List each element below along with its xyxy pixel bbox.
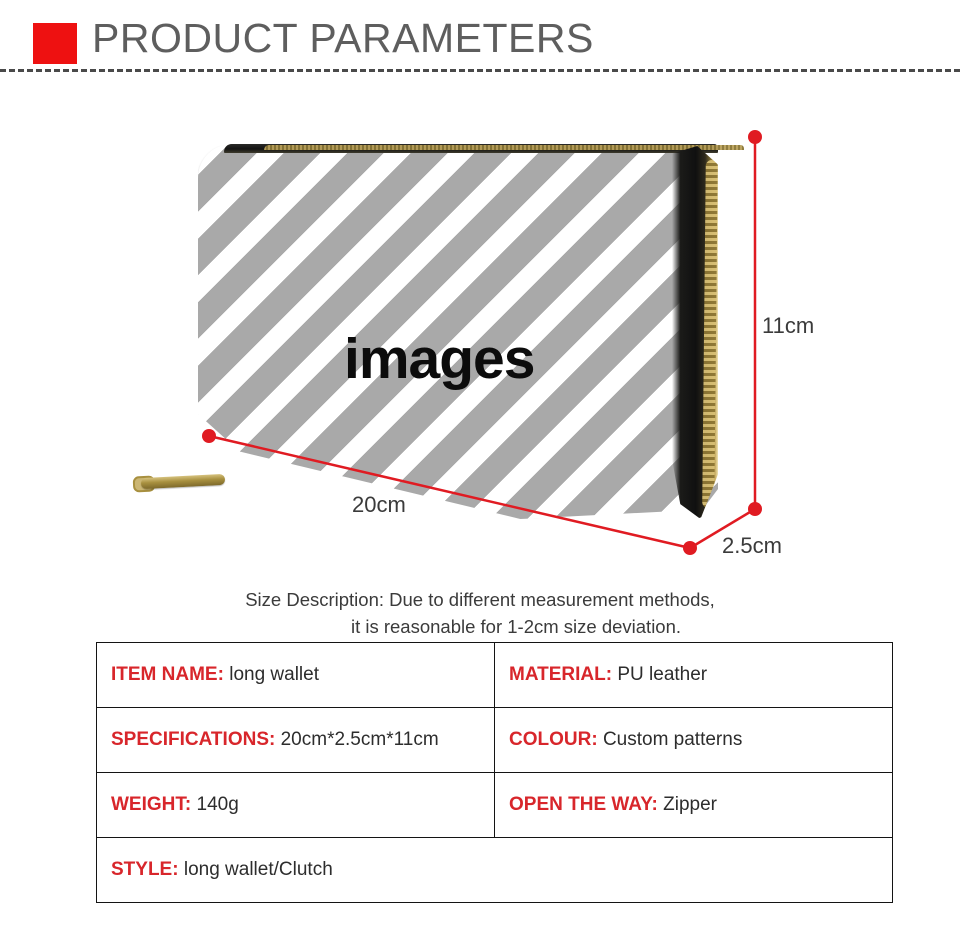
- table-cell-specifications: SPECIFICATIONS: 20cm*2.5cm*11cm: [97, 708, 495, 773]
- size-description: Size Description: Due to different measu…: [0, 586, 960, 640]
- cell-value: Zipper: [663, 794, 717, 815]
- width-dimension-label: 20cm: [352, 492, 406, 518]
- product-parameters-page: PRODUCT PARAMETERS images: [0, 0, 960, 932]
- table-cell-colour: COLOUR: Custom patterns: [495, 708, 893, 773]
- cell-label: MATERIAL:: [509, 664, 612, 685]
- cell-value: long wallet: [229, 664, 319, 685]
- wallet-side-zipper-teeth-icon: [702, 160, 718, 508]
- cell-label: ITEM NAME:: [111, 664, 224, 685]
- table-row: SPECIFICATIONS: 20cm*2.5cm*11cm COLOUR: …: [97, 708, 893, 773]
- table-row: WEIGHT: 140g OPEN THE WAY: Zipper: [97, 773, 893, 838]
- table-row: STYLE: long wallet/Clutch: [97, 838, 893, 903]
- cell-value: 20cm*2.5cm*11cm: [281, 729, 439, 750]
- cell-value: long wallet/Clutch: [184, 859, 333, 880]
- cell-value: PU leather: [617, 664, 707, 685]
- page-header: PRODUCT PARAMETERS: [0, 0, 960, 72]
- table-row: ITEM NAME: long wallet MATERIAL: PU leat…: [97, 643, 893, 708]
- wallet-image: images: [198, 144, 718, 519]
- table-cell-open-the-way: OPEN THE WAY: Zipper: [495, 773, 893, 838]
- cell-label: SPECIFICATIONS:: [111, 729, 275, 750]
- header-dashed-divider: [0, 69, 960, 72]
- cell-value: Custom patterns: [603, 729, 742, 750]
- wallet-top-zipper-teeth-icon: [264, 145, 744, 150]
- table-cell-item-name: ITEM NAME: long wallet: [97, 643, 495, 708]
- page-title: PRODUCT PARAMETERS: [92, 12, 594, 64]
- zipper-pull-icon: [133, 472, 225, 490]
- image-watermark-text: images: [344, 330, 534, 388]
- table-cell-material: MATERIAL: PU leather: [495, 643, 893, 708]
- cell-label: STYLE:: [111, 859, 179, 880]
- height-dimension-label: 11cm: [762, 313, 814, 339]
- cell-value: 140g: [197, 794, 239, 815]
- product-illustration: images: [0, 76, 960, 576]
- cell-label: WEIGHT:: [111, 794, 191, 815]
- size-description-line-2: it is reasonable for 1-2cm size deviatio…: [0, 613, 960, 640]
- red-square-marker-icon: [33, 23, 77, 64]
- size-description-line-1: Size Description: Due to different measu…: [245, 589, 715, 610]
- cell-label: OPEN THE WAY:: [509, 794, 658, 815]
- table-cell-weight: WEIGHT: 140g: [97, 773, 495, 838]
- zipper-pull-body: [141, 474, 225, 489]
- wallet-top-zipper-tape: [224, 144, 718, 153]
- table-cell-style: STYLE: long wallet/Clutch: [97, 838, 893, 903]
- depth-dimension-label: 2.5cm: [722, 533, 782, 559]
- specification-table: ITEM NAME: long wallet MATERIAL: PU leat…: [96, 642, 893, 903]
- wallet-spine: [672, 146, 718, 519]
- cell-label: COLOUR:: [509, 729, 598, 750]
- wallet-body: images: [198, 144, 718, 519]
